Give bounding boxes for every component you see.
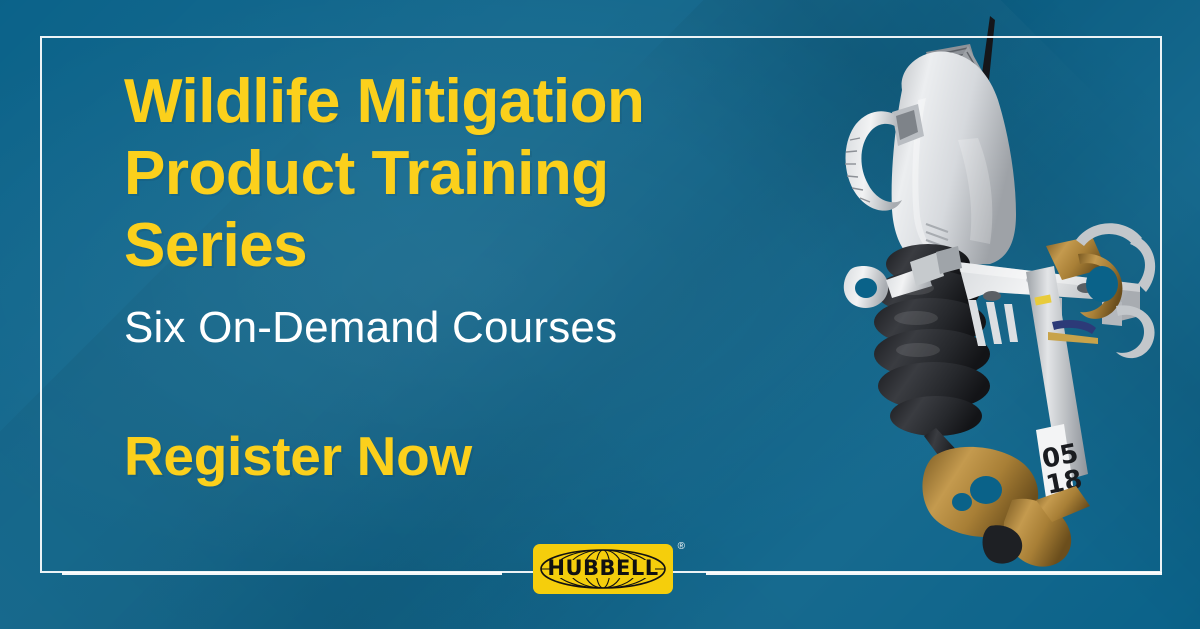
copy-block: Wildlife Mitigation Product Training Ser… [124, 66, 824, 356]
hubbell-logo[interactable]: HUBBELL ® [533, 544, 673, 594]
subhead: Six On-Demand Courses [124, 300, 824, 356]
divider-left [62, 572, 502, 575]
headline-line-1: Wildlife Mitigation [124, 66, 824, 138]
globe-icon: HUBBELL [533, 544, 673, 594]
marketing-banner: 05 18 Wildlife Mitig [0, 0, 1200, 629]
headline-line-3: Series [124, 210, 824, 282]
divider-right [706, 572, 1162, 575]
headline-line-2: Product Training [124, 138, 824, 210]
svg-text:HUBBELL: HUBBELL [547, 556, 658, 580]
registered-mark: ® [678, 542, 685, 552]
register-now-cta[interactable]: Register Now [124, 424, 472, 488]
